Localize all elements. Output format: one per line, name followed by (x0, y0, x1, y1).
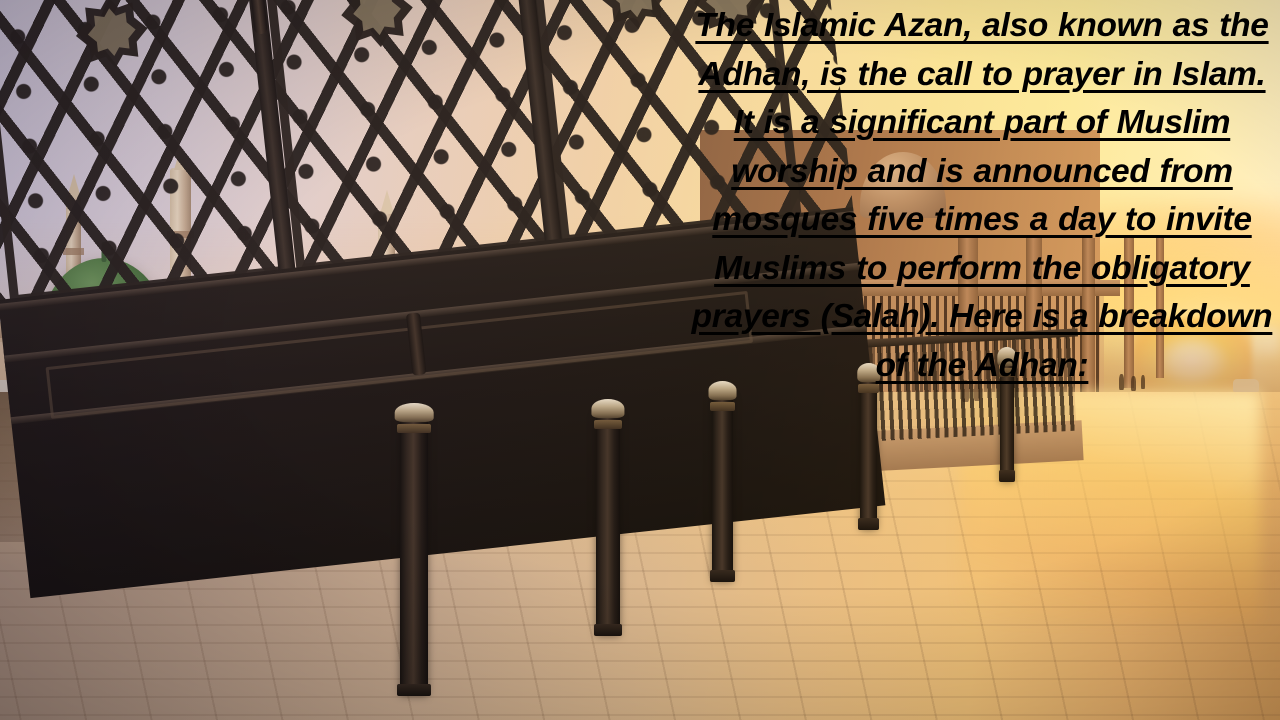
bollard-foot (594, 624, 623, 636)
bollard (860, 378, 877, 530)
slide-canvas: The Islamic Azan, also known as the Adha… (0, 0, 1280, 720)
bollard-foot (999, 470, 1016, 482)
gate-leaf (0, 0, 295, 305)
bollard (400, 418, 428, 696)
bollard-cap (395, 403, 434, 422)
bollard-foot (710, 570, 735, 582)
bollard (712, 396, 733, 582)
bollard-collar (594, 420, 623, 429)
bollard-foot (397, 684, 431, 696)
bollard-collar (397, 424, 431, 433)
bollard-collar (710, 402, 735, 411)
bollard-cap (591, 399, 624, 418)
gate-leaf (263, 0, 564, 274)
bollard (596, 414, 620, 636)
bollard-foot (858, 518, 878, 530)
caption-text: The Islamic Azan, also known as the Adha… (688, 0, 1280, 390)
